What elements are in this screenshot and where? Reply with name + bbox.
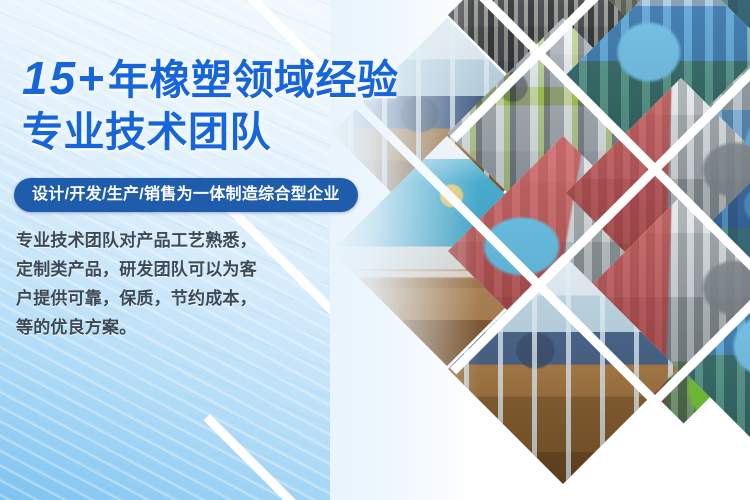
years-number: 15+ bbox=[22, 52, 106, 104]
banner-body-copy: 专业技术团队对产品工艺熟悉，定制类产品，研发团队可以为客户提供可靠，保质，节约成… bbox=[16, 226, 268, 342]
headline-line2: 专业技术团队 bbox=[22, 106, 452, 158]
headline-line1-rest: 年橡塑领域经验 bbox=[108, 57, 399, 103]
company-strength-banner: 15+年橡塑领域经验 专业技术团队 设计/开发/生产/销售为一体制造综合型企业 … bbox=[0, 0, 750, 500]
headline-text-block: 15+年橡塑领域经验 专业技术团队 设计/开发/生产/销售为一体制造综合型企业 … bbox=[0, 0, 360, 500]
banner-headline: 15+年橡塑领域经验 专业技术团队 bbox=[22, 52, 452, 158]
subtitle-pill: 设计/开发/生产/销售为一体制造综合型企业 bbox=[14, 178, 358, 212]
